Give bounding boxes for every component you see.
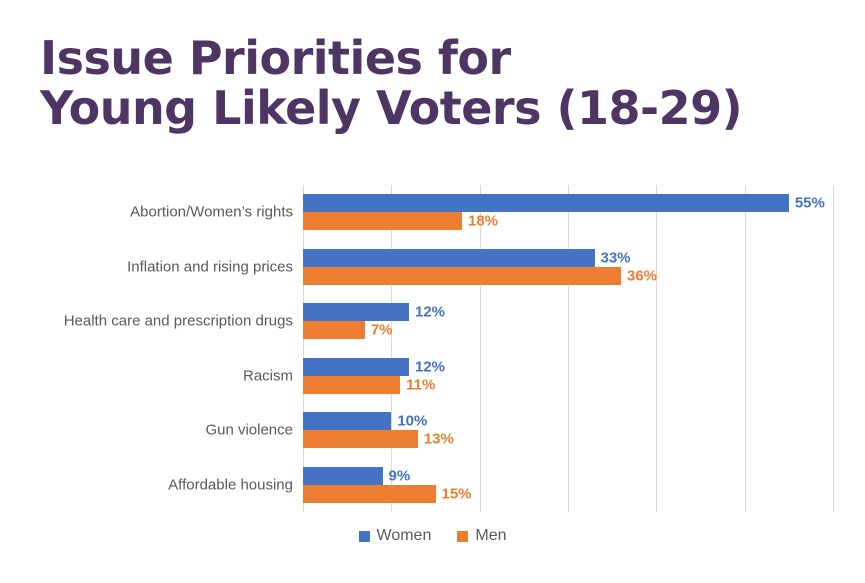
legend-swatch-women-icon [359,531,370,542]
bar-women[interactable] [303,412,391,430]
bars-container: 12%11% [303,358,863,394]
bars-container: 9%15% [303,467,863,503]
bar-men[interactable] [303,321,365,339]
bars-container: 33%36% [303,249,863,285]
bar-track-men: 15% [303,485,863,503]
bar-group: Gun violence10%13% [0,403,865,458]
page-title: Issue Priorities for Young Likely Voters… [40,34,840,133]
bar-value-women: 55% [795,195,825,212]
category-label: Racism [10,367,293,384]
bar-group: Racism12%11% [0,349,865,404]
bar-rows: Abortion/Women’s rights55%18%Inflation a… [0,185,865,512]
legend-item-men[interactable]: Men [457,528,506,544]
category-label: Gun violence [10,422,293,439]
bar-value-men: 36% [627,267,657,284]
chart-legend: WomenMen [0,528,865,544]
bar-men[interactable] [303,267,621,285]
bar-value-men: 15% [442,485,472,502]
bar-value-men: 13% [424,431,454,448]
category-label: Affordable housing [10,476,293,493]
bar-group: Inflation and rising prices33%36% [0,240,865,295]
bar-value-women: 33% [601,249,631,266]
bar-track-women: 12% [303,303,863,321]
bar-men[interactable] [303,485,436,503]
bar-track-women: 12% [303,358,863,376]
bar-track-women: 55% [303,194,863,212]
bar-women[interactable] [303,249,595,267]
bar-group: Health care and prescription drugs12%7% [0,294,865,349]
legend-label: Women [377,528,432,544]
bar-value-women: 12% [415,358,445,375]
legend-label: Men [475,528,506,544]
category-label: Abortion/Women’s rights [10,204,293,221]
bar-women[interactable] [303,358,409,376]
bar-women[interactable] [303,467,383,485]
bar-track-women: 10% [303,412,863,430]
bar-men[interactable] [303,430,418,448]
bars-container: 10%13% [303,412,863,448]
bar-track-men: 7% [303,321,863,339]
bar-value-women: 12% [415,304,445,321]
bar-women[interactable] [303,194,789,212]
bar-track-men: 36% [303,267,863,285]
bar-value-women: 10% [397,413,427,430]
bar-men[interactable] [303,212,462,230]
bars-container: 55%18% [303,194,863,230]
bar-track-women: 33% [303,249,863,267]
bar-value-men: 11% [406,376,435,393]
bar-men[interactable] [303,376,400,394]
bar-track-men: 18% [303,212,863,230]
chart-page: Issue Priorities for Young Likely Voters… [0,0,865,583]
legend-swatch-men-icon [457,531,468,542]
bar-group: Abortion/Women’s rights55%18% [0,185,865,240]
category-label: Inflation and rising prices [10,258,293,275]
bar-group: Affordable housing9%15% [0,458,865,513]
bar-women[interactable] [303,303,409,321]
bar-track-women: 9% [303,467,863,485]
legend-item-women[interactable]: Women [359,528,432,544]
bar-value-women: 9% [389,467,411,484]
bars-container: 12%7% [303,303,863,339]
bar-track-men: 11% [303,376,863,394]
bar-value-men: 7% [371,322,393,339]
bar-value-men: 18% [468,213,498,230]
category-label: Health care and prescription drugs [10,313,293,330]
bar-track-men: 13% [303,430,863,448]
